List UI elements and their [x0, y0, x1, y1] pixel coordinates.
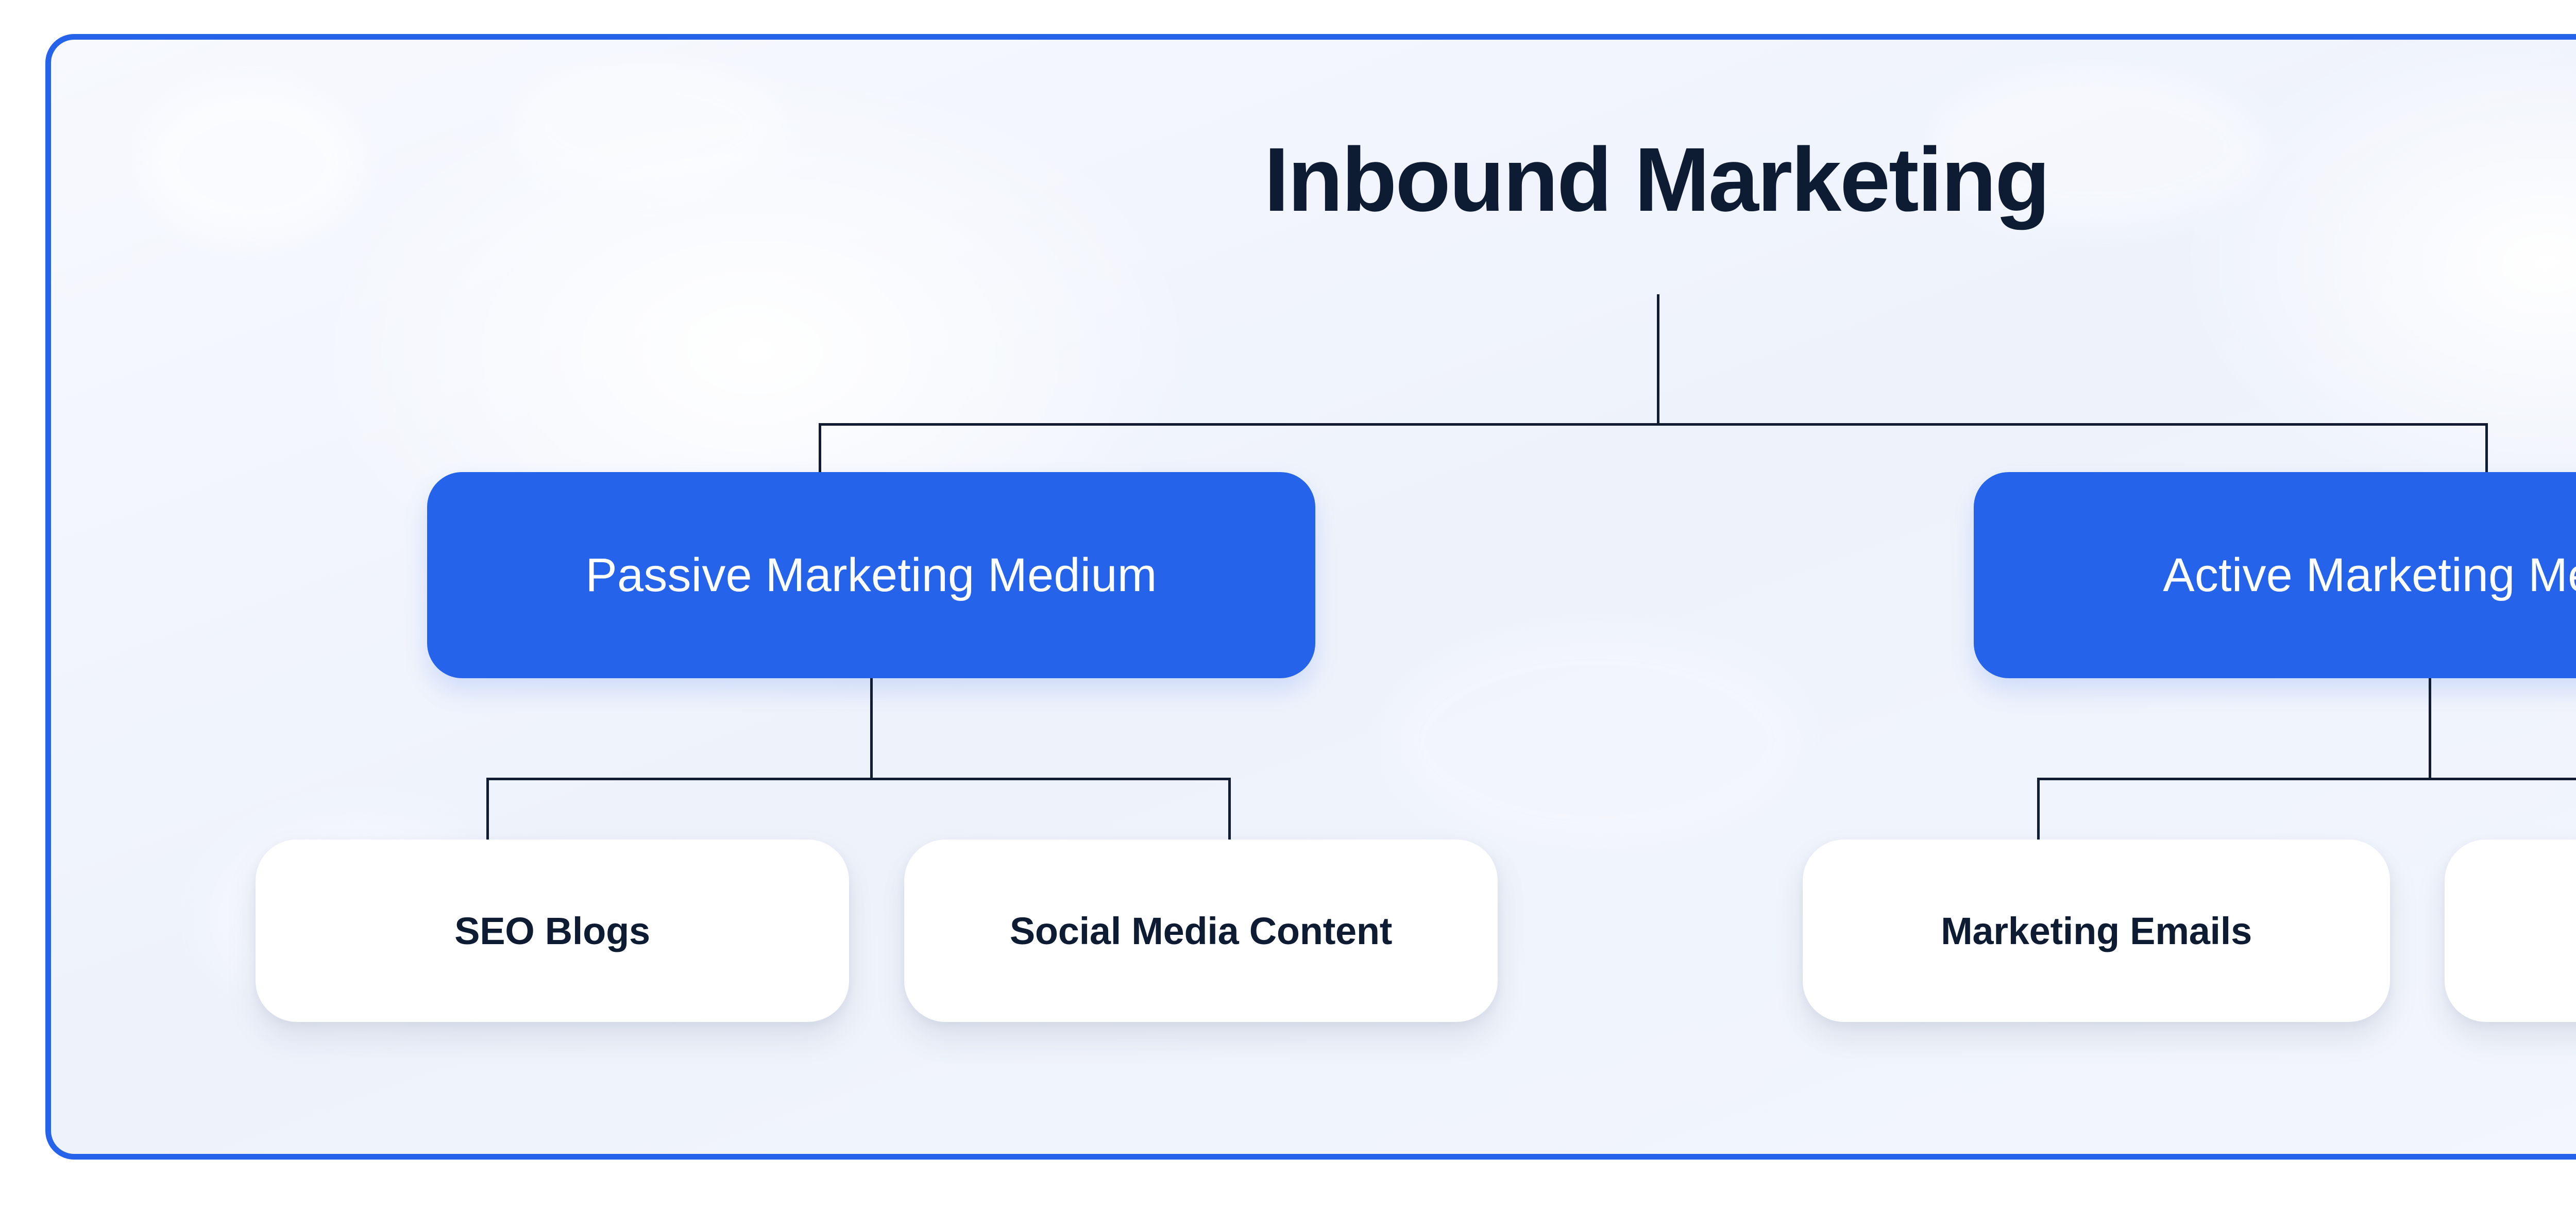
branch-node-label: Passive Marketing Medium	[585, 548, 1157, 602]
connector-to-seo-blogs	[486, 778, 489, 840]
connector-passive-stem	[870, 678, 873, 778]
diagram-title: Inbound Marketing	[51, 135, 2576, 225]
connector-to-marketing-emails	[2037, 778, 2040, 840]
branch-node-label: Active Marketing Medium	[2163, 548, 2576, 602]
connector-root-stem	[1657, 294, 1659, 424]
leaf-node-label: Marketing Emails	[1941, 909, 2252, 953]
branch-node-active[interactable]: Active Marketing Medium	[1974, 472, 2576, 678]
branch-node-passive[interactable]: Passive Marketing Medium	[427, 472, 1315, 678]
connector-level1-bus	[819, 423, 2488, 426]
connector-to-active	[2485, 423, 2488, 472]
diagram-panel: Inbound Marketing Passive Marketing Medi…	[45, 34, 2576, 1160]
connector-level2-bus-right	[2037, 778, 2576, 780]
connector-to-social-media-content	[1228, 778, 1231, 840]
connector-active-stem	[2429, 678, 2431, 778]
leaf-node-label: Social Media Content	[1010, 909, 1392, 953]
background-blob	[1391, 632, 1803, 849]
leaf-node-seo-blogs[interactable]: SEO Blogs	[256, 840, 849, 1022]
diagram-canvas: Inbound Marketing Passive Marketing Medi…	[0, 0, 2576, 1208]
leaf-node-marketing-emails[interactable]: Marketing Emails	[1803, 840, 2390, 1022]
leaf-node-social-media-content[interactable]: Social Media Content	[904, 840, 1498, 1022]
leaf-node-label: SEO Blogs	[454, 909, 650, 953]
leaf-node-ppc[interactable]: PPC	[2445, 840, 2576, 1022]
connector-level2-bus-left	[486, 778, 1231, 780]
connector-to-passive	[819, 423, 821, 472]
